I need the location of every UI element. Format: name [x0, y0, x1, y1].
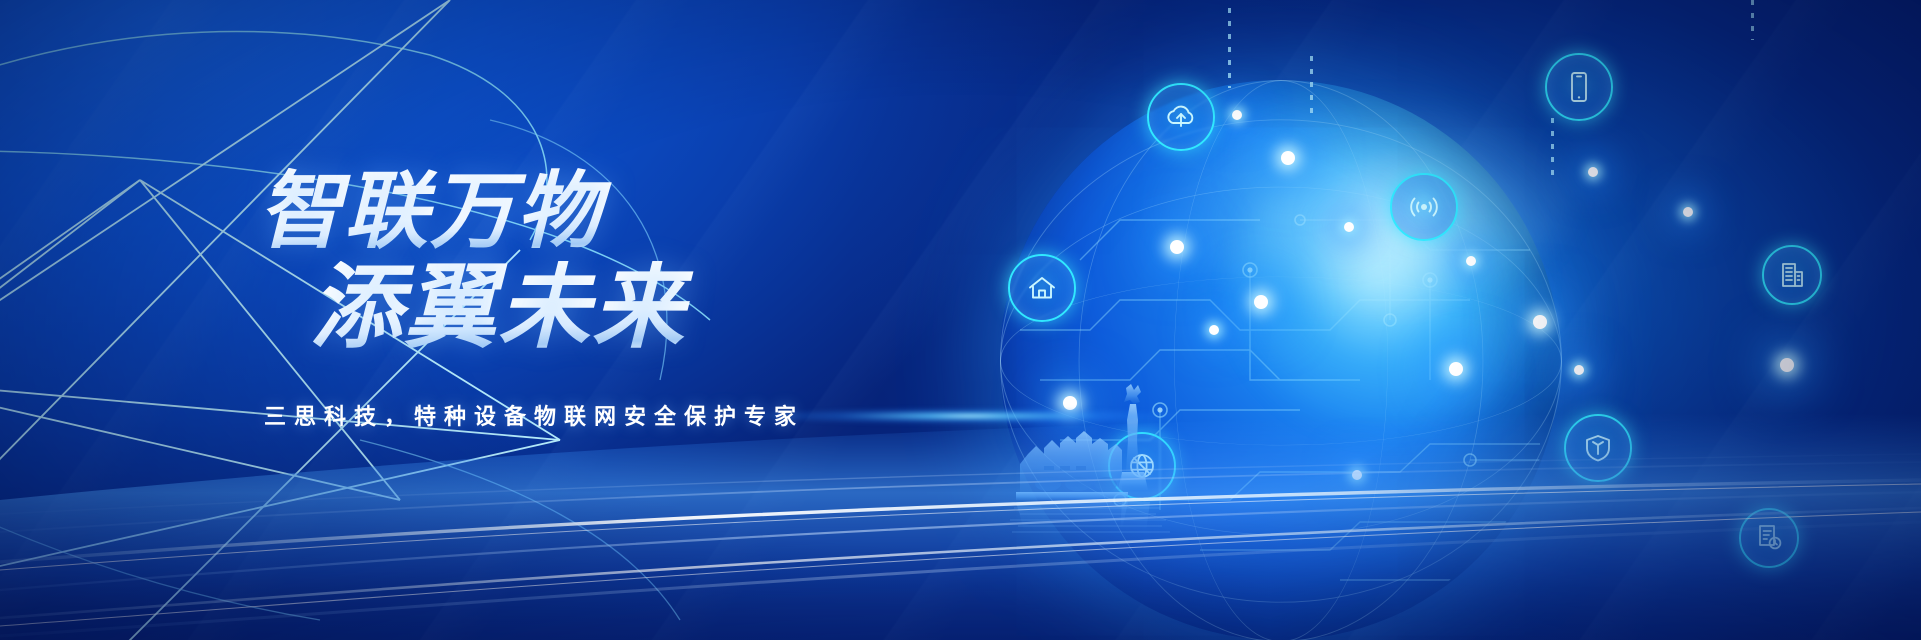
wifi-signal-icon: [1407, 192, 1441, 222]
node-building[interactable]: [1762, 245, 1822, 305]
globe-parallel: [1000, 119, 1562, 602]
globe-meridian: [1174, 80, 1388, 640]
dotted-connector-line: [1751, 0, 1754, 40]
network-node-dot: [1574, 365, 1584, 375]
tagline: 三思科技，特种设备物联网安全保护专家: [264, 399, 804, 431]
network-node-dot: [1683, 207, 1693, 217]
node-globe-network[interactable]: [1108, 432, 1176, 500]
node-cloud-upload[interactable]: [1147, 83, 1215, 151]
circuit-traces: [1000, 80, 1560, 640]
dotted-connector-line: [1310, 56, 1313, 116]
network-node-dot: [1063, 396, 1077, 410]
hero-copy: 智联万物 添翼未来 三思科技，特种设备物联网安全保护专家: [258, 168, 804, 431]
cloud-upload-icon: [1164, 102, 1198, 132]
report-icon: [1755, 523, 1783, 553]
network-node-dot: [1344, 222, 1354, 232]
dotted-connector-line: [1228, 8, 1231, 88]
globe-parallel: [1000, 187, 1562, 535]
shield-icon: [1583, 432, 1613, 464]
node-smartphone[interactable]: [1545, 53, 1613, 121]
network-node-dot: [1209, 325, 1219, 335]
network-node-dot: [1533, 315, 1547, 329]
globe-meridian: [1079, 80, 1484, 640]
network-node-dot: [1352, 470, 1362, 480]
headline-line-1: 智联万物: [258, 168, 804, 255]
building-icon: [1778, 260, 1806, 290]
smartphone-icon: [1566, 70, 1592, 104]
network-node-dot: [1254, 295, 1268, 309]
dotted-connector-line: [1551, 118, 1554, 182]
globe-core-glow: [1230, 140, 1560, 440]
network-node-dot: [1780, 358, 1794, 372]
network-node-dot: [1170, 240, 1184, 254]
network-node-dot: [1232, 110, 1242, 120]
node-home[interactable]: [1008, 254, 1076, 322]
network-node-dot: [1588, 167, 1598, 177]
globe-parallel: [1000, 277, 1562, 446]
home-icon: [1026, 273, 1058, 303]
network-node-dot: [1449, 362, 1463, 376]
network-node-dot: [1281, 151, 1295, 165]
globe-sphere: [1000, 80, 1560, 640]
globe-network-icon: [1126, 450, 1158, 482]
water-reflection: [1016, 502, 1150, 532]
headline-line-2: 添翼未来: [310, 261, 804, 356]
node-wifi-signal[interactable]: [1390, 173, 1458, 241]
node-report[interactable]: [1739, 508, 1799, 568]
globe-specular-highlight: [1150, 100, 1570, 300]
globe-graphic: [1000, 80, 1600, 640]
hero-banner: 智联万物 添翼未来 三思科技，特种设备物联网安全保护专家: [0, 0, 1921, 640]
node-shield[interactable]: [1564, 414, 1632, 482]
network-node-dot: [1466, 256, 1476, 266]
lens-flare: [760, 408, 1180, 424]
